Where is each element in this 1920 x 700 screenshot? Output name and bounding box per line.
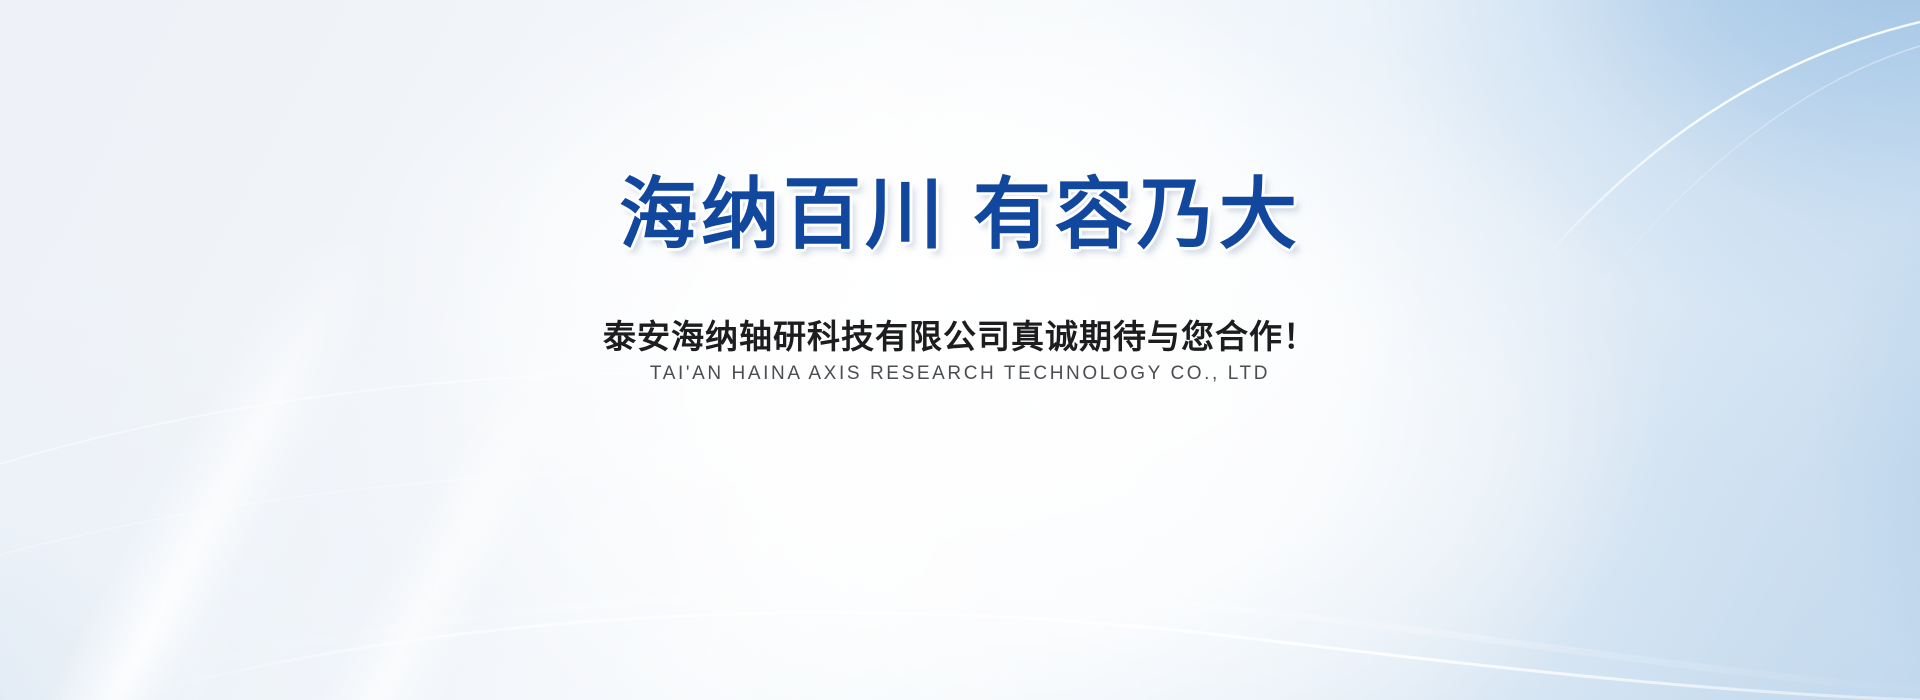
banner-subtitle-chinese: 泰安海纳轴研科技有限公司真诚期待与您合作！ — [0, 310, 1920, 358]
banner-headline: 海纳百川 有容乃大 — [0, 172, 1920, 256]
hero-banner: 海纳百川 有容乃大 泰安海纳轴研科技有限公司真诚期待与您合作！ TAI'AN H… — [0, 0, 1920, 700]
banner-subtitle-english: TAI'AN HAINA AXIS RESEARCH TECHNOLOGY CO… — [0, 363, 1920, 385]
banner-content: 海纳百川 有容乃大 泰安海纳轴研科技有限公司真诚期待与您合作！ TAI'AN H… — [0, 0, 1920, 700]
